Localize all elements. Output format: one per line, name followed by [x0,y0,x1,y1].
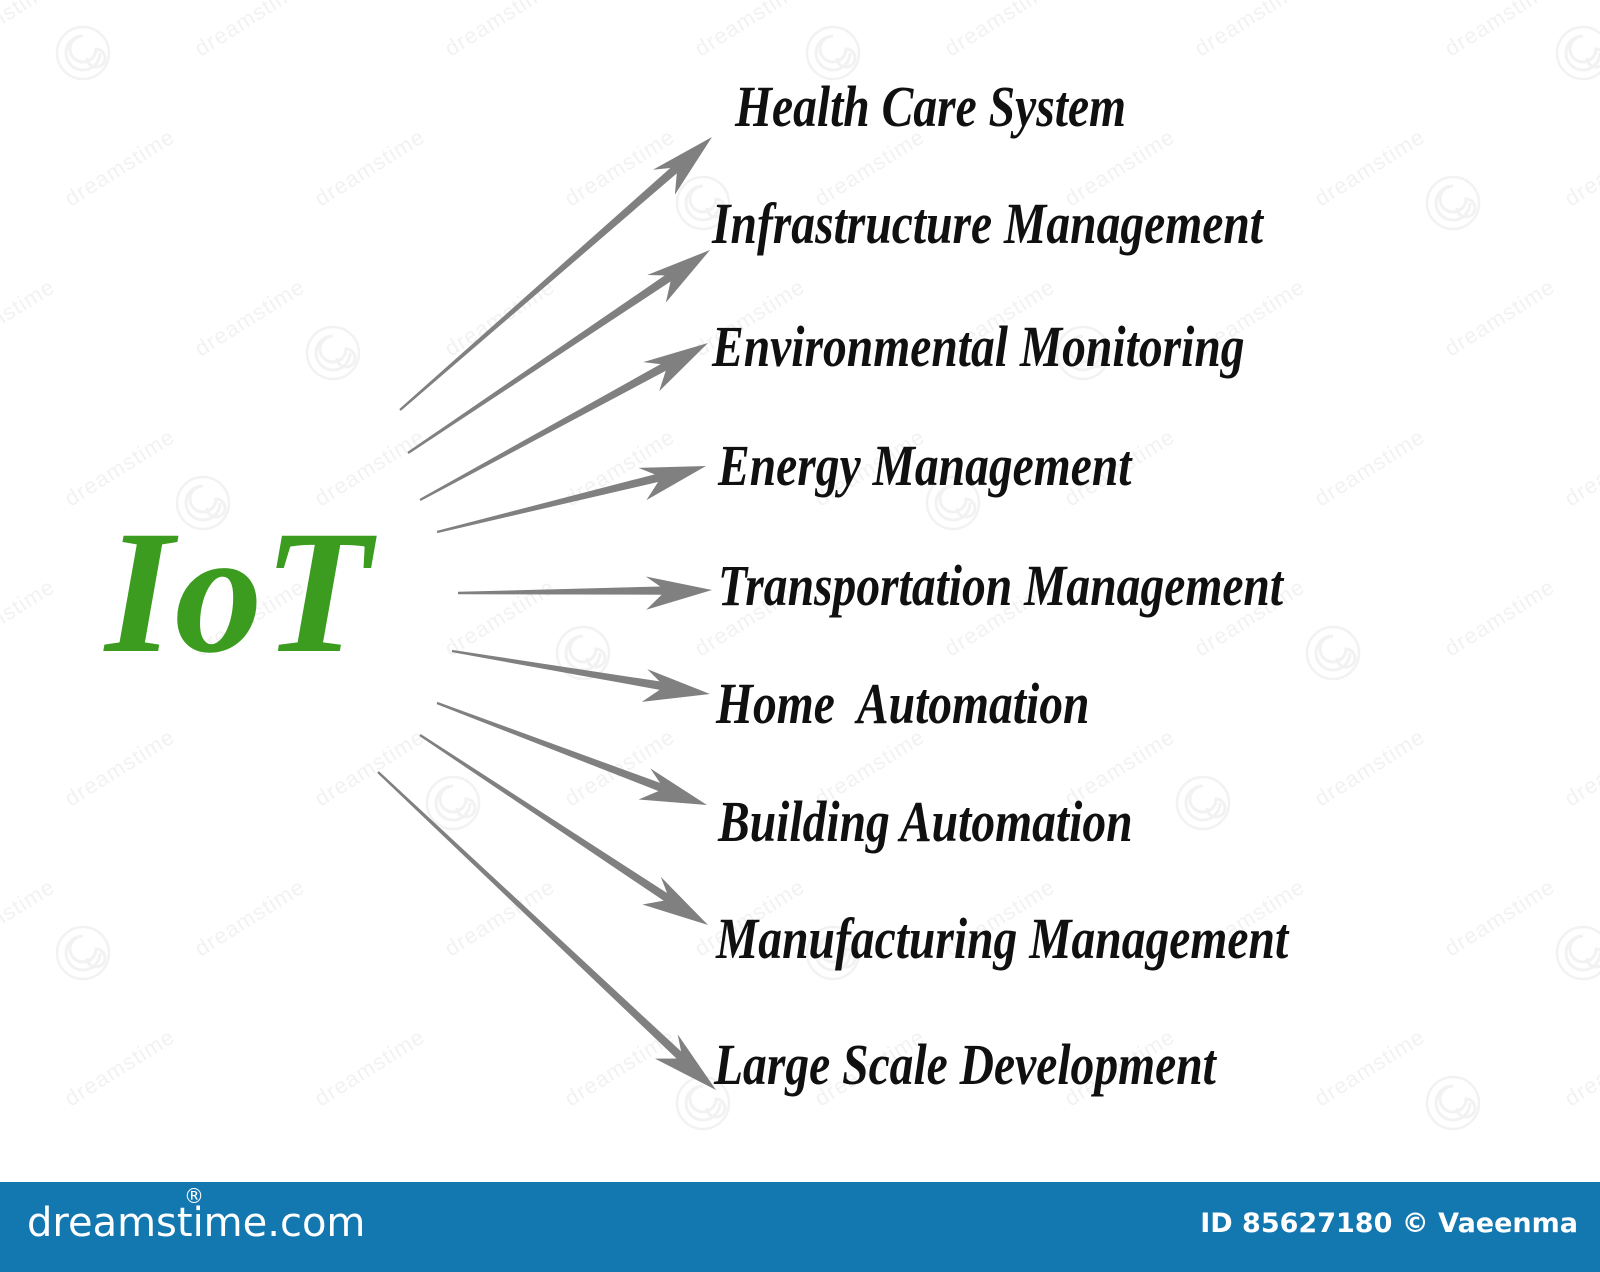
arrow-head [643,343,708,391]
arrow-shaft [437,702,666,793]
connector-arrow [452,650,710,702]
branch-label: Infrastructure Management [712,195,1263,253]
arrow-shaft [407,272,674,454]
branch-label: Energy Management [718,437,1132,495]
branch-label: Building Automation [718,793,1133,851]
footer-bar: dreamstime.com ® ID 85627180 © Vaeenma [0,1182,1600,1272]
arrow-shaft [437,473,663,533]
branch-label: Home Automation [716,675,1089,733]
branch-label: Transportation Management [718,557,1283,615]
branch-label: Health Care System [735,78,1126,136]
connector-arrow [419,734,708,925]
arrow-shaft [452,650,666,691]
arrow-shaft [458,586,666,594]
dreamstime-logo[interactable]: dreamstime.com ® [27,1200,365,1246]
connector-arrow [437,466,706,533]
branch-label: Large Scale Development [714,1036,1216,1094]
branch-label: Manufacturing Management [716,910,1288,968]
branch-label: Environmental Monitoring [712,318,1245,376]
arrow-shaft [419,734,672,903]
arrow-shaft [377,771,685,1061]
center-node-iot: IoT [105,505,372,681]
connector-arrow [437,702,707,805]
arrow-shaft [419,361,669,501]
diagram-canvas: dreamstimedreamstimedreamstimedreamstime… [0,0,1600,1272]
arrow-head [647,250,710,303]
connector-arrow [458,577,712,610]
registered-mark-icon: ® [184,1184,204,1208]
arrow-shaft [399,164,680,411]
image-id-credit: ID 85627180 © Vaeenma [1200,1208,1578,1239]
